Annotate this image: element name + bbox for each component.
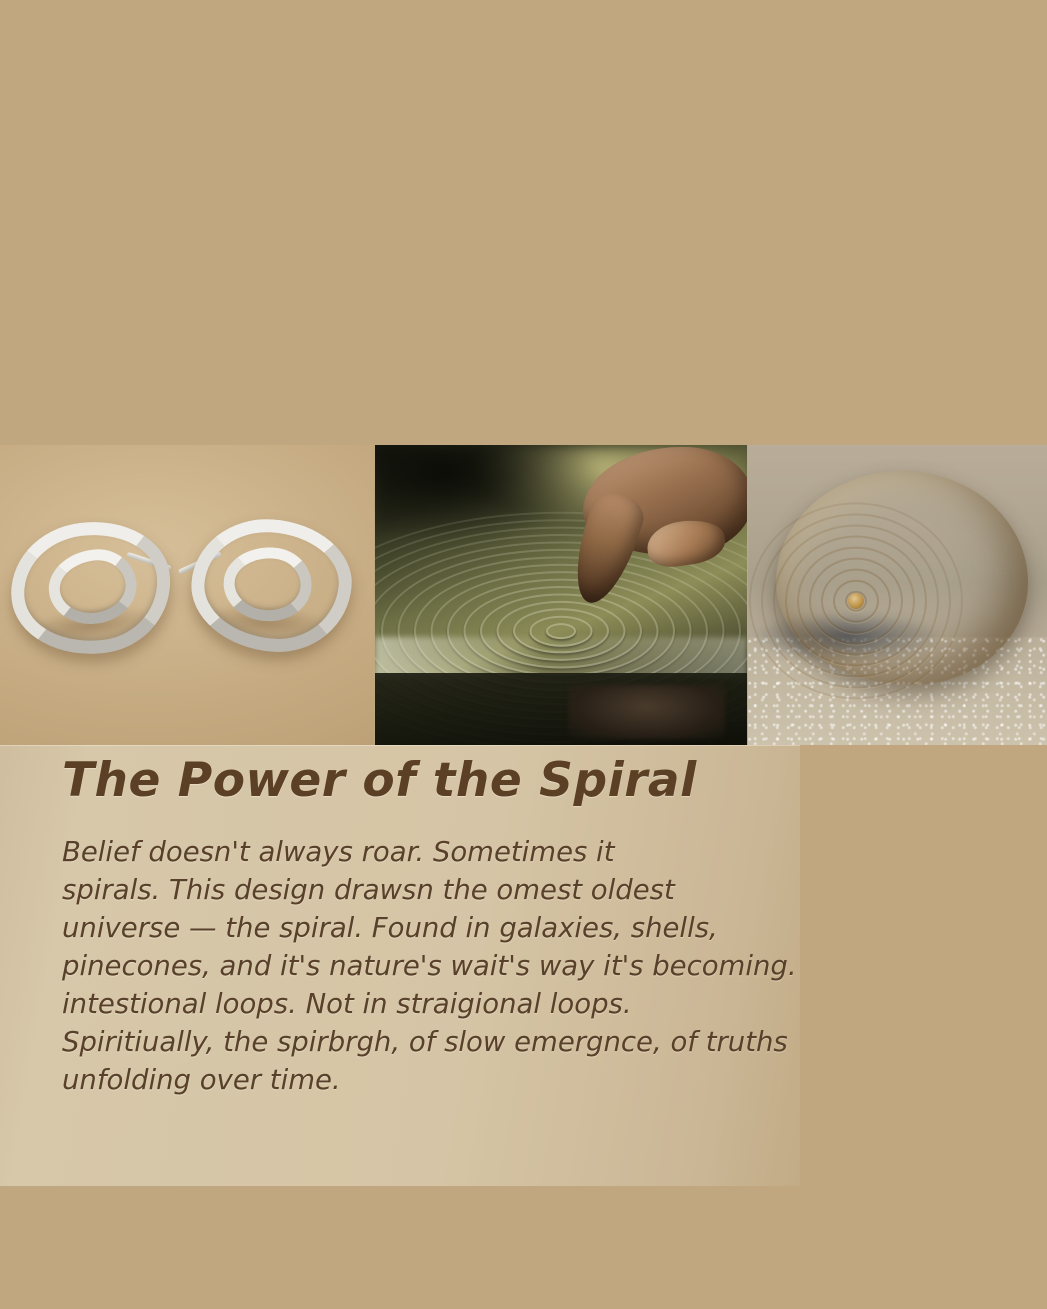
image-silver-spiral-earrings: [0, 445, 374, 745]
rock-reflection: [568, 685, 724, 739]
image-hand-touching-water-ripples: [375, 445, 747, 745]
card-body-line: intestional loops. Not in straigional lo…: [62, 985, 762, 1023]
card-body-line: universe — the spiral. Found in galaxies…: [62, 909, 762, 947]
image-strip: [0, 445, 1047, 745]
poster-canvas: The Power of the Spiral Belief doesn't a…: [0, 0, 1047, 1309]
card-body-line: Spiritiually, the spirbrgh, of slow emer…: [62, 1023, 762, 1061]
card-body-line: Belief doesn't always roar. Sometimes it: [62, 833, 762, 871]
hand-icon: [563, 447, 747, 637]
card-body-line: spirals. This design drawsn the omest ol…: [62, 871, 762, 909]
text-card: The Power of the Spiral Belief doesn't a…: [0, 745, 800, 1186]
earring-right: [186, 508, 345, 648]
image-golden-snail-shell-on-sand: [748, 445, 1047, 745]
earring-left: [1, 508, 166, 655]
card-body-line: unfolding over time.: [62, 1061, 762, 1099]
card-body-line: pinecones, and it's nature's wait's way …: [62, 947, 762, 985]
page-title: The Power of the Spiral: [62, 753, 697, 808]
card-body-text: Belief doesn't always roar. Sometimes it…: [62, 833, 762, 1099]
shell-apex: [848, 593, 864, 609]
